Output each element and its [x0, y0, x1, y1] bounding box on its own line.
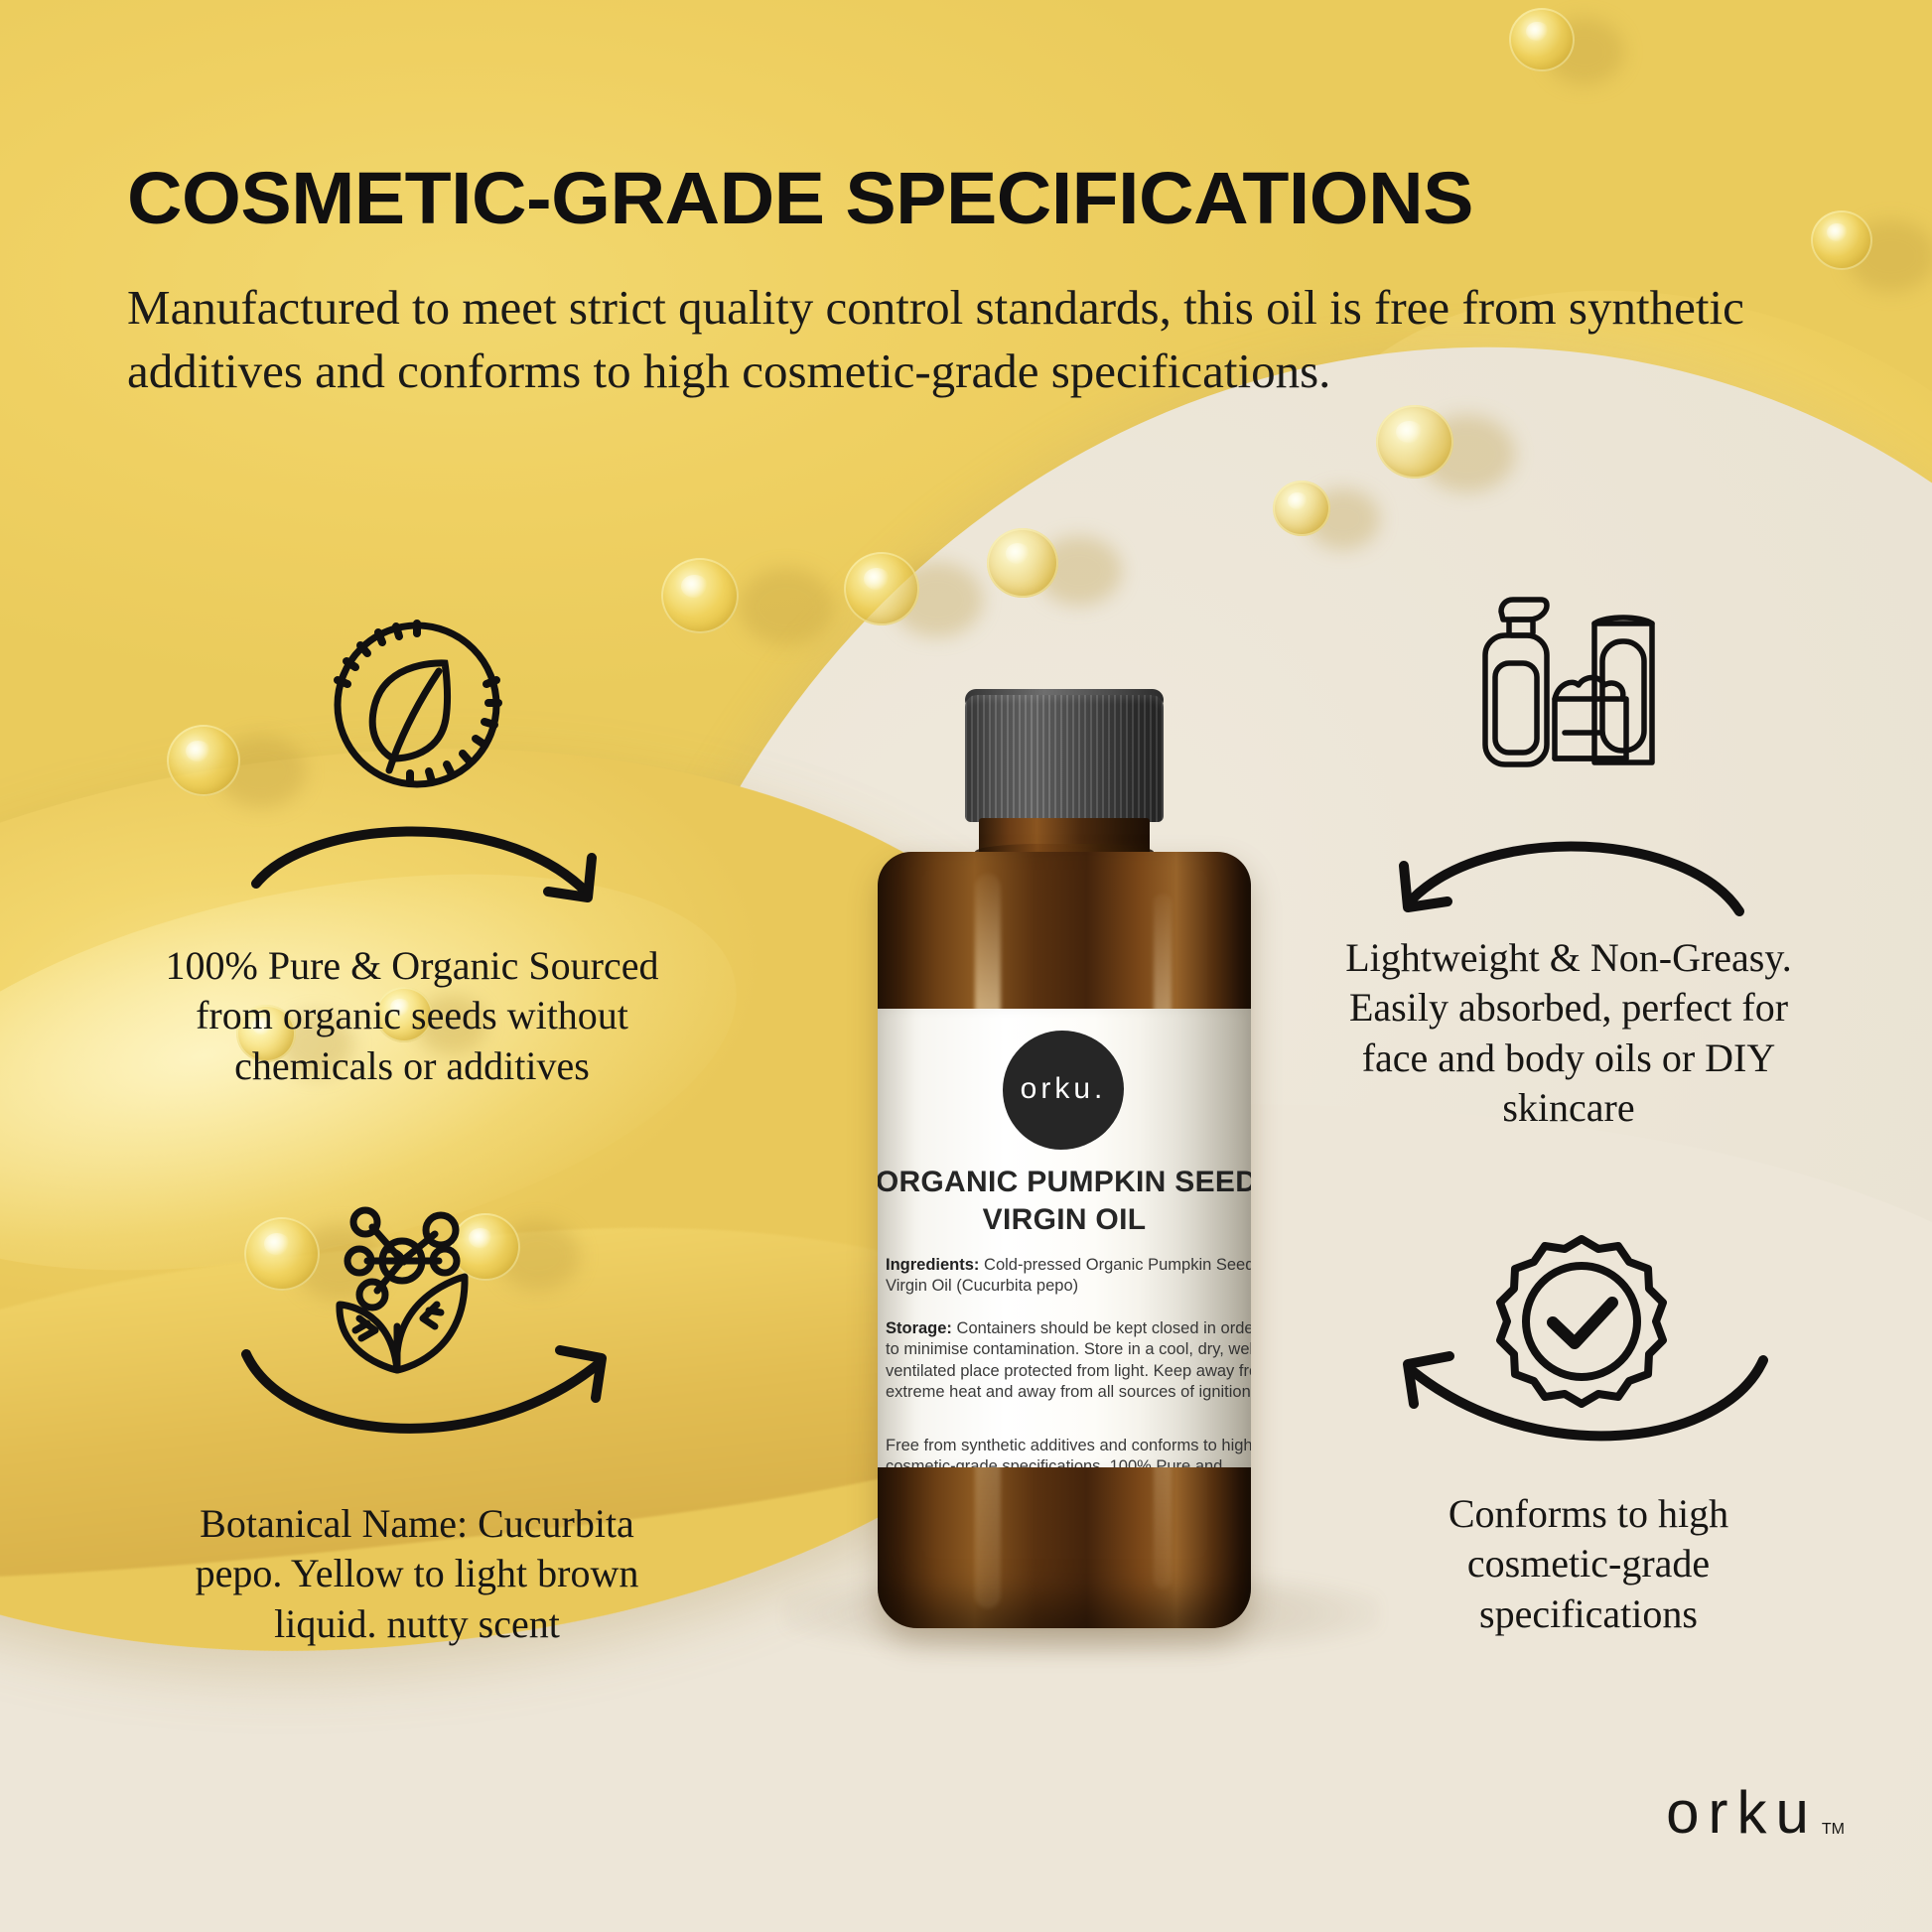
feature-left-top-text: 100% Pure & Organic Sourced from organic… — [149, 941, 675, 1091]
footer-brand-logo: orku TM — [1666, 1778, 1845, 1847]
leaf-in-circle-icon — [328, 616, 506, 799]
oil-droplet — [987, 528, 1058, 598]
oil-droplet — [1376, 405, 1453, 479]
label-storage-heading: Storage: — [886, 1319, 952, 1337]
feature-left-bottom-text: Botanical Name: Cucurbita pepo. Yellow t… — [159, 1499, 675, 1649]
feature-right-top-text: Lightweight & Non-Greasy. Easily absorbe… — [1320, 933, 1817, 1134]
oil-droplet — [1509, 8, 1575, 71]
brand-logo-badge: orku. — [1003, 1031, 1124, 1150]
oil-droplet — [167, 725, 240, 796]
footer-brand-text: orku — [1666, 1778, 1818, 1847]
trademark-symbol: TM — [1822, 1821, 1845, 1839]
droplet-shadow — [739, 568, 834, 645]
product-bottle: orku. ORGANIC PUMPKIN SEED VIRGIN OIL In… — [856, 695, 1273, 1628]
bottle-label: orku. ORGANIC PUMPKIN SEED VIRGIN OIL In… — [878, 1009, 1251, 1467]
label-ingredients-heading: Ingredients: — [886, 1256, 979, 1274]
oil-droplet — [1273, 481, 1330, 536]
feature-right-bottom-text: Conforms to high cosmetic-grade specific… — [1375, 1489, 1802, 1639]
oil-droplet — [244, 1217, 320, 1291]
oil-droplet — [844, 552, 919, 625]
product-name-line1: ORGANIC PUMPKIN SEED — [878, 1166, 1251, 1199]
label-ingredients: Ingredients: Cold-pressed Organic Pumpki… — [886, 1255, 1251, 1298]
label-claims: Free from synthetic additives and confor… — [886, 1436, 1251, 1467]
infographic-canvas: COSMETIC-GRADE SPECIFICATIONS Manufactur… — [0, 0, 1932, 1932]
label-storage: Storage: Containers should be kept close… — [886, 1318, 1251, 1404]
page-title: COSMETIC-GRADE SPECIFICATIONS — [127, 161, 1882, 235]
curved-arrow-icon — [1368, 1330, 1785, 1484]
curved-arrow-icon — [226, 1322, 643, 1476]
page-subtitle: Manufactured to meet strict quality cont… — [127, 276, 1835, 402]
bottle-cap — [965, 695, 1164, 822]
brand-logo-text: orku. — [1021, 1072, 1107, 1106]
oil-droplet — [661, 558, 739, 633]
product-name-line2: VIRGIN OIL — [878, 1203, 1251, 1237]
cosmetics-products-icon — [1449, 584, 1670, 779]
curved-arrow-icon — [238, 812, 625, 946]
